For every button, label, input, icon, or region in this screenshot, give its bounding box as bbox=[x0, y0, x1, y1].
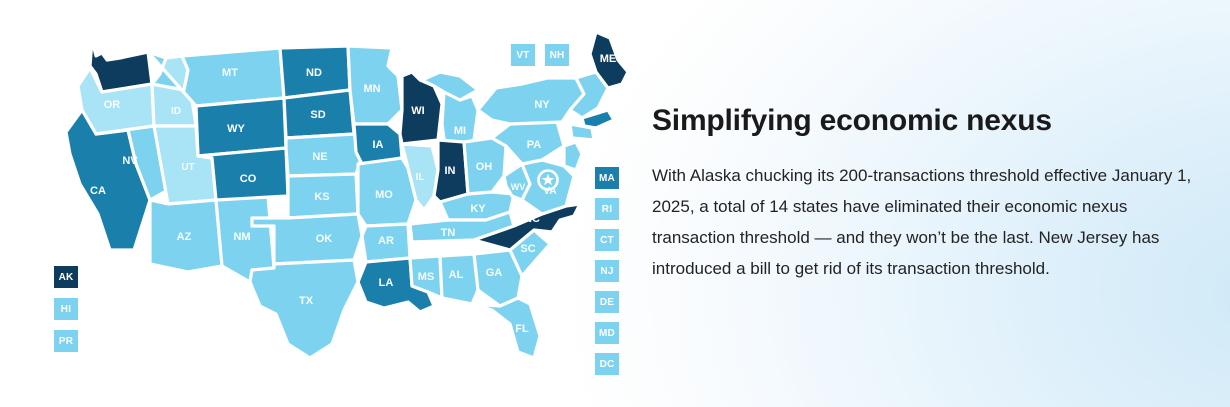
state-TX[interactable] bbox=[250, 260, 358, 358]
infographic-root: WA OR CA NV ID MT WY UT AZ NM CO ND SD N… bbox=[0, 0, 1230, 407]
state-FL[interactable] bbox=[472, 298, 540, 358]
map-badge-ma[interactable]: MA bbox=[595, 167, 619, 189]
state-label-OH: OH bbox=[476, 161, 493, 173]
map-badge-nj[interactable]: NJ bbox=[595, 260, 619, 282]
state-label-MN: MN bbox=[363, 83, 380, 95]
map-badge-pr-label: PR bbox=[59, 336, 73, 347]
state-label-NY: NY bbox=[534, 99, 550, 111]
page-title: Simplifying economic nexus bbox=[652, 103, 1212, 139]
state-label-MT: MT bbox=[222, 67, 238, 79]
state-label-AZ: AZ bbox=[177, 231, 192, 243]
map-badge-ak[interactable]: AK bbox=[54, 266, 78, 288]
state-label-UT: UT bbox=[181, 162, 194, 173]
state-label-IL: IL bbox=[416, 172, 425, 183]
article-body: With Alaska chucking its 200-transaction… bbox=[652, 160, 1204, 284]
state-CT-RI[interactable] bbox=[570, 124, 594, 140]
map-badge-hi-label: HI bbox=[61, 304, 71, 315]
state-label-WA: WA bbox=[115, 47, 133, 59]
state-label-MS: MS bbox=[418, 271, 435, 283]
map-badge-hi[interactable]: HI bbox=[54, 298, 78, 320]
state-label-SD: SD bbox=[310, 109, 325, 121]
map-badge-md-label: MD bbox=[599, 328, 615, 339]
us-map-svg: WA OR CA NV ID MT WY UT AZ NM CO ND SD N… bbox=[36, 14, 636, 394]
state-label-NV: NV bbox=[122, 155, 138, 167]
state-label-OR: OR bbox=[104, 99, 121, 111]
map-badge-ct-label: CT bbox=[600, 235, 614, 246]
map-badge-ma-label: MA bbox=[599, 173, 615, 184]
map-badge-ri[interactable]: RI bbox=[595, 198, 619, 220]
map-badge-md[interactable]: MD bbox=[595, 322, 619, 344]
state-label-ME: ME bbox=[600, 53, 617, 65]
article-text-panel: Simplifying economic nexus With Alaska c… bbox=[652, 0, 1212, 407]
map-badge-dc[interactable]: DC bbox=[595, 353, 619, 375]
map-badge-de[interactable]: DE bbox=[595, 291, 619, 313]
state-NY[interactable] bbox=[478, 78, 584, 124]
state-label-AR: AR bbox=[378, 235, 394, 247]
map-badge-ct[interactable]: CT bbox=[595, 229, 619, 251]
map-badge-ri-label: RI bbox=[602, 204, 612, 215]
northeast-badge-column: MA RI CT NJ DE MD DC bbox=[595, 167, 619, 375]
state-label-NM: NM bbox=[233, 231, 250, 243]
state-label-ND: ND bbox=[306, 67, 322, 79]
state-label-CA: CA bbox=[90, 185, 106, 197]
offshore-badge-column: AK HI PR bbox=[54, 266, 78, 352]
map-badge-nj-label: NJ bbox=[600, 266, 613, 277]
state-label-OK: OK bbox=[316, 233, 333, 245]
state-label-WY: WY bbox=[227, 123, 245, 135]
state-label-NC: NC bbox=[524, 213, 540, 225]
state-label-LA: LA bbox=[379, 277, 394, 289]
state-label-TN: TN bbox=[441, 227, 456, 239]
state-label-PA: PA bbox=[527, 139, 542, 151]
state-label-NE: NE bbox=[312, 151, 327, 163]
state-label-KY: KY bbox=[470, 203, 486, 215]
state-label-ID: ID bbox=[171, 106, 181, 117]
map-badge-dc-label: DC bbox=[600, 359, 615, 370]
state-label-CO: CO bbox=[240, 173, 257, 185]
state-NJ-DE-MD[interactable] bbox=[564, 142, 582, 170]
state-label-IA: IA bbox=[373, 139, 384, 151]
state-label-WV: WV bbox=[511, 182, 526, 192]
vt-nh-badge-row: VT NH bbox=[511, 44, 569, 66]
state-label-IN: IN bbox=[445, 165, 456, 177]
map-badge-nh[interactable]: NH bbox=[545, 44, 569, 66]
map-badge-nh-label: NH bbox=[550, 50, 565, 61]
us-choropleth-map: WA OR CA NV ID MT WY UT AZ NM CO ND SD N… bbox=[0, 0, 640, 407]
state-label-MO: MO bbox=[375, 189, 393, 201]
map-badge-pr[interactable]: PR bbox=[54, 330, 78, 352]
map-badge-vt[interactable]: VT bbox=[511, 44, 535, 66]
state-label-WI: WI bbox=[411, 105, 424, 117]
state-label-SC: SC bbox=[520, 243, 535, 255]
state-label-GA: GA bbox=[486, 267, 503, 279]
state-label-TX: TX bbox=[299, 295, 314, 307]
map-badge-vt-label: VT bbox=[516, 50, 529, 61]
state-label-AL: AL bbox=[449, 269, 464, 281]
state-label-KS: KS bbox=[314, 191, 329, 203]
map-badge-de-label: DE bbox=[600, 297, 614, 308]
state-label-FL: FL bbox=[515, 323, 529, 335]
map-badge-ak-label: AK bbox=[59, 272, 74, 283]
state-label-MI: MI bbox=[454, 125, 466, 137]
